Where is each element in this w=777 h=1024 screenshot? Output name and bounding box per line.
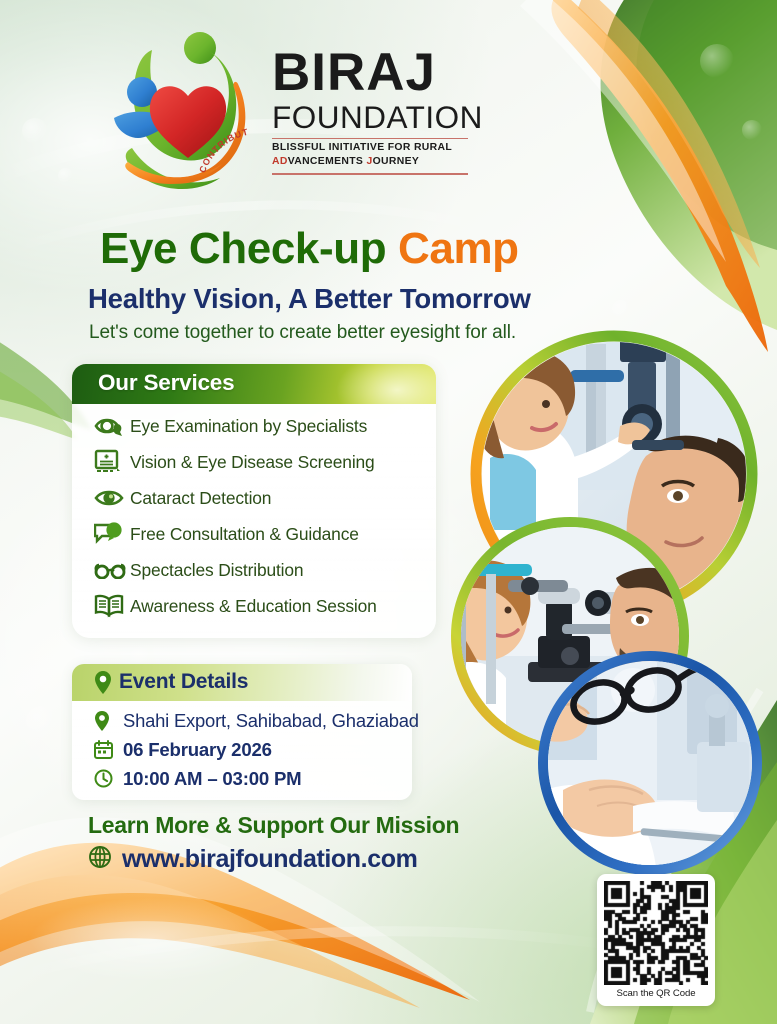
- eye-scan-icon: [94, 412, 130, 440]
- glasses-icon: [94, 556, 130, 584]
- calendar-icon: [94, 740, 123, 759]
- brand-tagline-b: B: [272, 142, 280, 153]
- brand-name-sub: FOUNDATION: [272, 101, 532, 134]
- event-time-text: 10:00 AM – 03:00 PM: [123, 768, 301, 790]
- brand-tagline-end: OURNEY: [373, 156, 420, 167]
- service-label: Vision & Eye Disease Screening: [130, 452, 375, 473]
- location-pin-icon: [94, 670, 112, 700]
- event-row-location: Shahi Export, Sahibabad, Ghaziabad: [72, 706, 412, 735]
- eye-icon: [94, 484, 130, 512]
- service-item: Awareness & Education Session: [72, 588, 436, 624]
- learn-more-heading: Learn More & Support Our Mission: [88, 812, 459, 839]
- brand-name-main: BIRAJ: [272, 48, 532, 99]
- services-card: Our Services Eye Examination by Speciali…: [72, 364, 436, 638]
- service-item: Free Consultation & Guidance: [72, 516, 436, 552]
- photo-spectacles-fitting: [537, 650, 763, 876]
- event-date-text: 06 February 2026: [123, 739, 272, 761]
- bokeh-dot: [58, 168, 73, 183]
- event-details-banner: Event Details: [72, 664, 412, 701]
- event-details-title: Event Details: [119, 670, 248, 694]
- service-item: Eye Examination by Specialists: [72, 408, 436, 444]
- service-label: Cataract Detection: [130, 488, 271, 509]
- report-icon: [94, 448, 130, 476]
- service-item: Vision & Eye Disease Screening: [72, 444, 436, 480]
- service-label: Free Consultation & Guidance: [130, 524, 359, 545]
- service-label: Spectacles Distribution: [130, 560, 303, 581]
- services-list: Eye Examination by Specialists Vision & …: [72, 408, 436, 624]
- website-row[interactable]: www.birajfoundation.com: [88, 845, 417, 874]
- chat-icon: [94, 520, 130, 548]
- brand-divider-bottom: [272, 173, 468, 174]
- services-banner: Our Services: [72, 364, 436, 404]
- brand-tagline: BLISSFUL INITIATIVE FOR RURAL ADVANCEMEN…: [272, 141, 468, 169]
- service-item: Spectacles Distribution: [72, 552, 436, 588]
- qr-code-card[interactable]: Scan the QR Code: [597, 874, 715, 1006]
- page-title: Eye Check-up Camp: [100, 224, 519, 274]
- location-pin-icon: [94, 710, 123, 732]
- page-subtitle: Healthy Vision, A Better Tomorrow: [88, 283, 531, 315]
- page-tagline: Let's come together to create better eye…: [89, 322, 516, 344]
- bokeh-dot: [22, 118, 48, 144]
- poster-canvas: CONTRIBUTE BIRAJ FOUNDATION BLISSFUL INI…: [0, 0, 777, 1024]
- brand-tagline-line1: LISSFUL INITIATIVE FOR RURAL: [280, 142, 452, 153]
- brand-wordmark: BIRAJ FOUNDATION BLISSFUL INITIATIVE FOR…: [272, 48, 532, 177]
- website-url[interactable]: www.birajfoundation.com: [122, 845, 417, 874]
- service-item: Cataract Detection: [72, 480, 436, 516]
- open-book-icon: [94, 592, 130, 620]
- qr-code-image[interactable]: [604, 881, 708, 985]
- title-part-2: Camp: [398, 224, 519, 273]
- bokeh-dot: [700, 44, 734, 78]
- services-banner-title: Our Services: [72, 364, 436, 396]
- event-location-text: Shahi Export, Sahibabad, Ghaziabad: [123, 710, 419, 732]
- brand-tagline-ad: AD: [272, 156, 288, 167]
- event-row-time: 10:00 AM – 03:00 PM: [72, 764, 412, 793]
- globe-icon: [88, 845, 112, 874]
- event-row-date: 06 February 2026: [72, 735, 412, 764]
- title-part-1: Eye Check-up: [100, 224, 398, 273]
- service-label: Awareness & Education Session: [130, 596, 377, 617]
- brand-divider-top: [272, 138, 468, 139]
- event-details-card: Event Details Shahi Export, Sahibabad, G…: [72, 664, 412, 800]
- brand-tagline-mid: VANCEMENTS: [288, 156, 367, 167]
- bokeh-dot: [742, 120, 762, 140]
- bokeh-dot: [26, 706, 56, 736]
- service-label: Eye Examination by Specialists: [130, 416, 367, 437]
- event-rows: Shahi Export, Sahibabad, Ghaziabad 06 Fe…: [72, 706, 412, 793]
- brand-logo: CONTRIBUTE BIRAJ FOUNDATION BLISSFUL INI…: [112, 26, 532, 206]
- qr-code-caption: Scan the QR Code: [604, 988, 708, 999]
- bokeh-dot: [612, 300, 630, 318]
- clock-icon: [94, 769, 123, 788]
- logo-mark-icon: CONTRIBUTE: [112, 26, 264, 196]
